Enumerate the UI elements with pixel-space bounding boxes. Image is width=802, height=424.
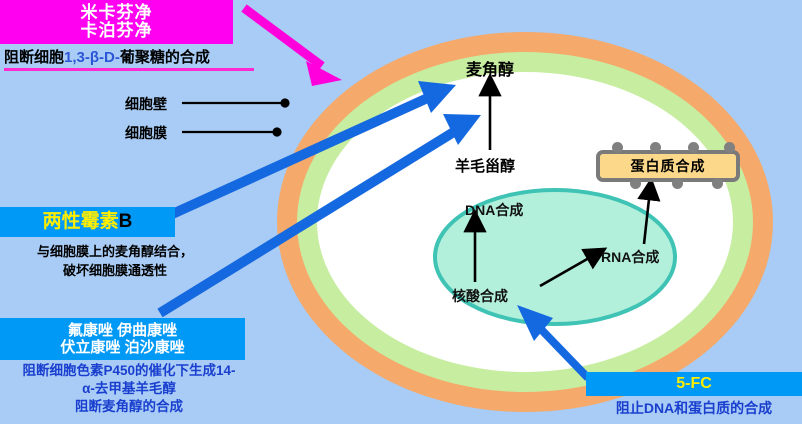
ribosome-icon — [672, 178, 683, 189]
amphotericinB-banner[interactable]: 两性霉素B — [0, 207, 175, 237]
amphotericinB-drug-name: 两性霉素 — [43, 211, 119, 232]
amphotericinB-mechanism: 与细胞膜上的麦角醇结合， 破坏细胞膜通透性 — [0, 243, 230, 281]
dna-synthesis-label: DNA合成 — [465, 200, 523, 220]
flucytosine-drug-name: 5-FC — [676, 375, 712, 393]
echinocandin-mech-suffix: 葡聚糖的合成 — [120, 49, 210, 66]
ribosome-icon — [612, 142, 623, 153]
ribosome-icon — [712, 178, 723, 189]
flucytosine-banner[interactable]: 5-FC — [586, 372, 802, 396]
azole-mech-line2: α-去甲基羊毛醇 — [0, 380, 258, 398]
echinocandin-mechanism: 阻断细胞1,3-β-D-葡聚糖的合成 — [4, 46, 254, 67]
diagram-canvas: 蛋白质合成 麦角醇 羊毛甾醇 DNA合成 RNA合成 核酸合成 细胞壁 细胞膜 … — [0, 0, 802, 424]
rna-synthesis-label: RNA合成 — [601, 247, 659, 267]
protein-synthesis-label: 蛋白质合成 — [631, 156, 706, 176]
arrow-echinocandin-to-cellwall — [244, 8, 342, 86]
cell-membrane-label: 细胞膜 — [125, 123, 167, 143]
echinocandin-drug-line1: 米卡芬净 — [81, 4, 153, 22]
leader-line-cell-membrane — [182, 127, 282, 136]
echinocandin-drug-line2: 卡泊芬净 — [81, 22, 153, 40]
ribosome-icon — [724, 142, 735, 153]
echinocandin-banner[interactable]: 米卡芬净 卡泊芬净 — [0, 0, 233, 44]
echinocandin-mech-highlight: 1,3-β-D- — [64, 49, 120, 66]
flucytosine-mechanism: 阻止DNA和蛋白质的合成 — [586, 398, 802, 418]
leader-line-cell-wall — [182, 98, 290, 107]
ribosome-icon — [630, 178, 641, 189]
azole-mech-line3: 阻断麦角醇的合成 — [0, 398, 258, 416]
cell-wall-label: 细胞壁 — [125, 94, 167, 114]
azole-drug-line1: 氟康唑 伊曲康唑 — [68, 322, 177, 339]
lanosterol-label: 羊毛甾醇 — [455, 155, 515, 176]
ergosterol-label: 麦角醇 — [466, 56, 514, 80]
azole-banner[interactable]: 氟康唑 伊曲康唑 伏立康唑 泊沙康唑 — [0, 318, 245, 360]
ribosome-icon — [688, 142, 699, 153]
amphotericinB-mech-line1: 与细胞膜上的麦角醇结合， — [0, 243, 230, 262]
amphotericinB-mech-line2: 破坏细胞膜通透性 — [0, 262, 230, 281]
azole-drug-line2a: 伏立康唑 — [60, 339, 120, 356]
nucleic-acid-synthesis-label: 核酸合成 — [452, 286, 508, 306]
echinocandin-mech-prefix: 阻断细胞 — [4, 49, 64, 66]
azole-mechanism: 阻断细胞色素P450的催化下生成14- α-去甲基羊毛醇 阻断麦角醇的合成 — [0, 362, 258, 417]
azole-mech-line1: 阻断细胞色素P450的催化下生成14- — [0, 362, 258, 380]
amphotericinB-drug-suffix: B — [119, 211, 133, 232]
azole-drug-line2b: 泊沙康唑 — [125, 339, 185, 356]
echinocandin-underline — [4, 68, 254, 71]
ribosome-icon — [650, 142, 661, 153]
